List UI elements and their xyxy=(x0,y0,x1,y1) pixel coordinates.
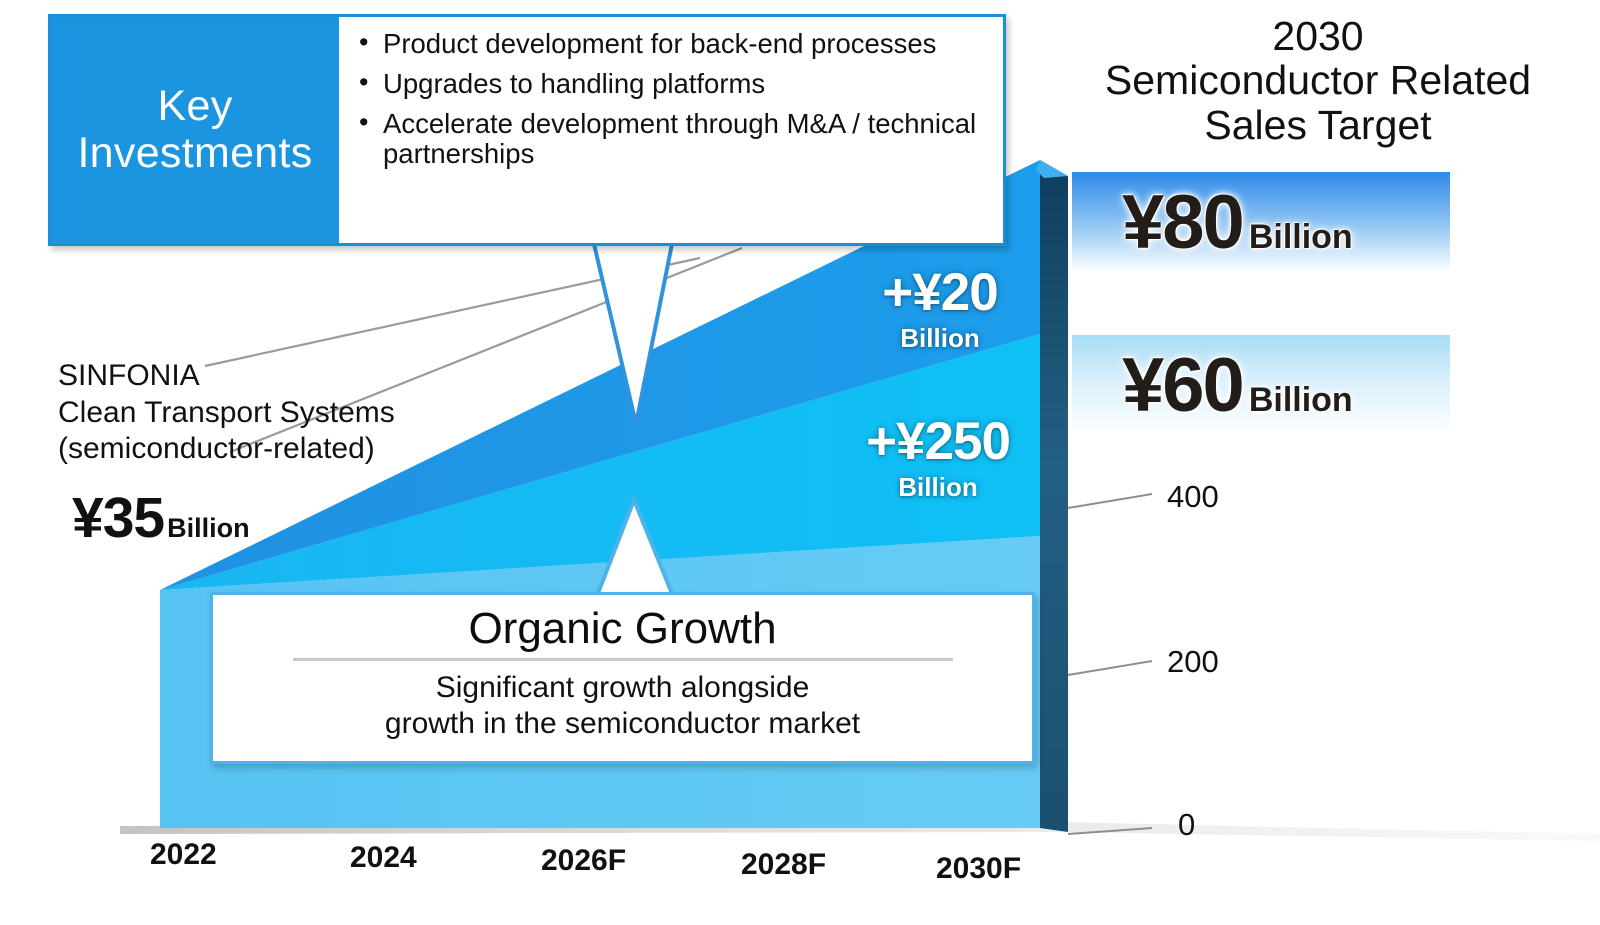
delta-organic-growth-label: +¥250 Billion xyxy=(823,415,1053,507)
list-item: Accelerate development through M&A / tec… xyxy=(357,109,987,171)
list-item: Upgrades to handling platforms xyxy=(357,69,987,100)
target-lower-value-group: ¥60Billion xyxy=(1122,342,1353,429)
target-lower-amount: ¥60 xyxy=(1122,343,1243,428)
organic-growth-callout: Organic Growth Significant growth alongs… xyxy=(210,592,1035,764)
y-axis-tick-label: 0 xyxy=(1178,807,1195,843)
base-amount-value: ¥35 xyxy=(72,486,164,550)
delta-mid-amount: +¥250 xyxy=(823,415,1053,468)
target-lower-badge: ¥60Billion xyxy=(1072,335,1450,435)
base-amount-label: ¥35Billion xyxy=(72,485,250,551)
x-axis-tick-label: 2026F xyxy=(541,844,626,878)
page-title: 2030 Semiconductor Related Sales Target xyxy=(1040,14,1596,147)
company-name-line2: Clean Transport Systems xyxy=(58,395,395,432)
delta-key-investments-label: +¥20 Billion xyxy=(845,266,1035,358)
delta-top-unit: Billion xyxy=(845,319,1035,358)
slide-canvas: Key Investments Product development for … xyxy=(0,0,1600,925)
target-upper-badge: ¥80Billion xyxy=(1072,172,1450,272)
company-name-line1: SINFONIA xyxy=(58,358,395,395)
y-axis-tick-label: 200 xyxy=(1167,644,1219,680)
target-upper-value-group: ¥80Billion xyxy=(1122,179,1353,266)
x-axis-tick-label: 2030F xyxy=(936,852,1021,886)
company-name-line3: (semiconductor-related) xyxy=(58,431,395,468)
base-amount-unit: Billion xyxy=(167,513,250,543)
target-upper-unit: Billion xyxy=(1249,218,1353,256)
key-investments-callout: Key Investments Product development for … xyxy=(48,14,1006,246)
base-business-label: SINFONIA Clean Transport Systems (semico… xyxy=(58,358,395,468)
target-lower-unit: Billion xyxy=(1249,381,1353,419)
divider xyxy=(293,658,953,661)
key-investments-heading: Key Investments xyxy=(77,83,312,178)
key-investments-list: Product development for back-end process… xyxy=(357,29,987,170)
delta-mid-unit: Billion xyxy=(823,468,1053,507)
delta-top-amount: +¥20 xyxy=(845,266,1035,319)
list-item: Product development for back-end process… xyxy=(357,29,987,60)
organic-growth-title: Organic Growth xyxy=(468,606,776,652)
x-axis-tick-label: 2024 xyxy=(350,841,417,875)
ytick-line-400 xyxy=(1068,494,1152,508)
ytick-line-200 xyxy=(1068,661,1152,675)
key-investments-body: Product development for back-end process… xyxy=(339,17,1003,243)
target-upper-amount: ¥80 xyxy=(1122,180,1243,265)
organic-growth-subtitle: Significant growth alongside growth in t… xyxy=(385,670,860,742)
x-axis-tick-label: 2028F xyxy=(741,848,826,882)
y-axis-tick-label: 400 xyxy=(1167,479,1219,515)
key-investments-header: Key Investments xyxy=(51,17,339,243)
x-axis-tick-label: 2022 xyxy=(150,838,217,872)
